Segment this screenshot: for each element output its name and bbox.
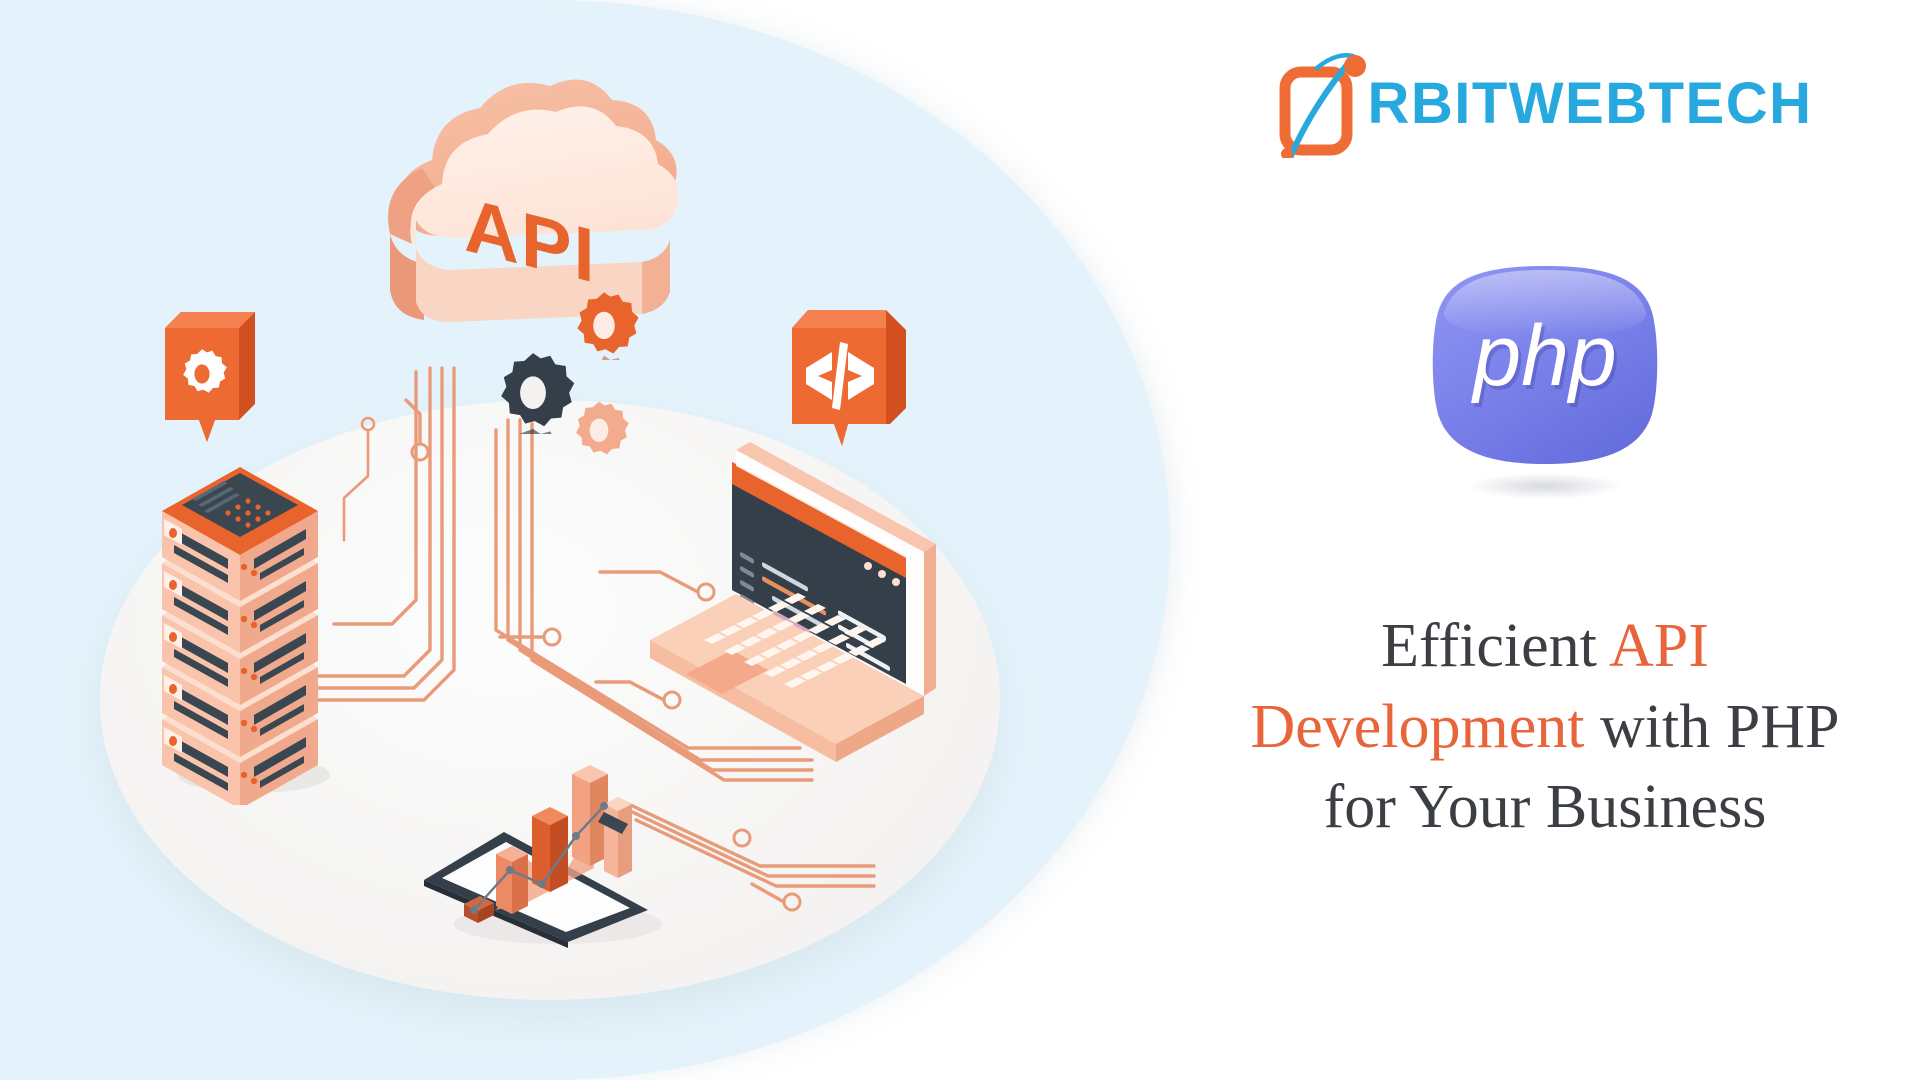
php-badge-icon: php php <box>1427 260 1663 500</box>
server-rack <box>148 455 398 805</box>
gear-light-icon <box>568 398 630 460</box>
gear-dark-icon <box>490 348 576 434</box>
illustration-stage: API <box>0 0 1170 1080</box>
settings-bubble-badge <box>155 300 267 445</box>
headline-accent-development: Development <box>1251 693 1585 761</box>
brand-logo[interactable]: RBITWEBTECH <box>1277 48 1812 160</box>
headline-accent-api: API <box>1609 612 1709 680</box>
code-bubble-badge <box>790 298 908 448</box>
api-cloud: API <box>368 72 698 372</box>
page-title: Efficient API Development with PHP for Y… <box>1185 606 1905 848</box>
php-logo: php php <box>1395 230 1695 530</box>
orbit-square-icon <box>1277 50 1369 158</box>
poster-canvas: API <box>0 0 1920 1080</box>
headline-part-1: Efficient <box>1381 612 1609 680</box>
phone-bar-chart <box>408 720 708 950</box>
gear-orange-icon <box>568 288 640 360</box>
brand-name-text: RBITWEBTECH <box>1367 75 1812 133</box>
headline-part-3: for Your Business <box>1324 773 1767 841</box>
headline-part-2: with PHP <box>1585 693 1840 761</box>
right-content-column: RBITWEBTECH <box>1170 0 1920 1080</box>
php-wordmark: php <box>1470 308 1617 404</box>
